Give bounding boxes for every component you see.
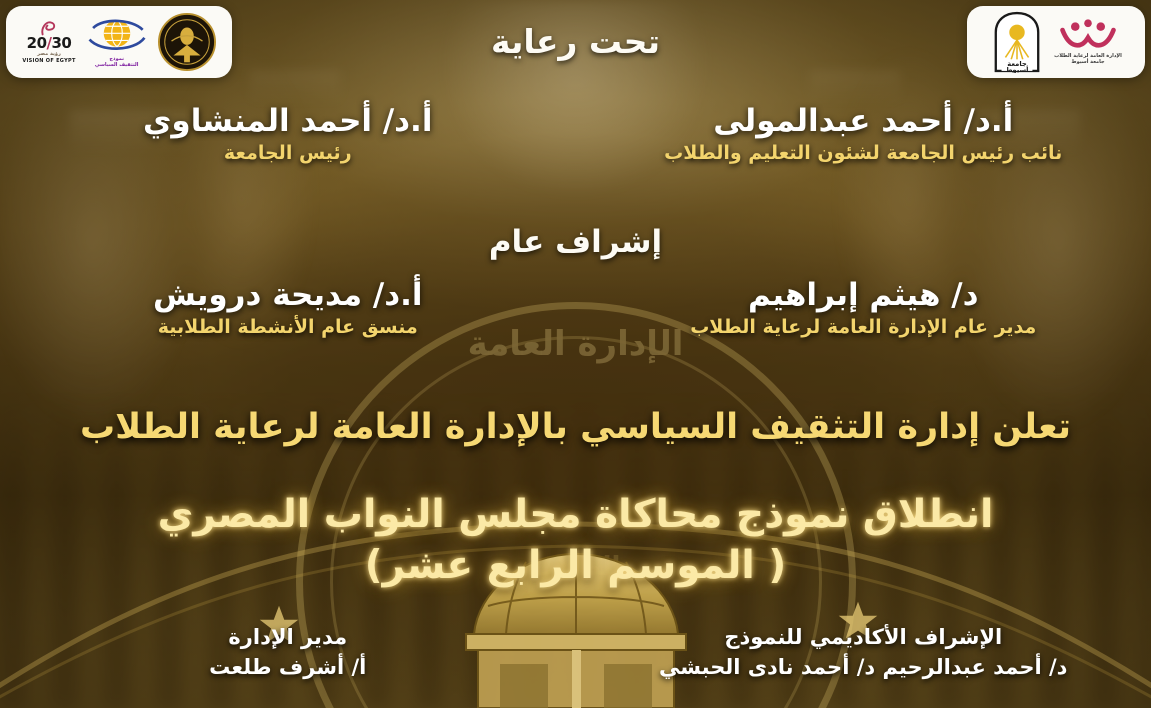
headline-line-2: ( الموسم الرابع عشر) bbox=[40, 540, 1111, 591]
footer-row: الإشراف الأكاديمي للنموذج د/ أحمد عبدالر… bbox=[0, 624, 1151, 681]
footer-title: مدير الإدارة bbox=[26, 624, 550, 650]
patron-university-president: أ.د/ أحمد المنشاوي رئيس الجامعة bbox=[0, 104, 576, 165]
patron-role: رئيس الجامعة bbox=[12, 142, 564, 165]
patron-role: نائب رئيس الجامعة لشئون التعليم والطلاب bbox=[588, 142, 1140, 165]
footer-names: أ/ أشرف طلعت bbox=[26, 654, 550, 680]
patronage-kicker: تحت رعاية bbox=[0, 22, 1151, 61]
supervisor-activities-coordinator: أ.د/ مديحة درويش منسق عام الأنشطة الطلاب… bbox=[0, 278, 576, 339]
event-headline: انطلاق نموذج محاكاة مجلس النواب المصري (… bbox=[0, 489, 1151, 592]
supervisors-row: د/ هيثم إبراهيم مدير عام الإدارة العامة … bbox=[0, 278, 1151, 339]
footer-department-manager: مدير الإدارة أ/ أشرف طلعت bbox=[0, 624, 576, 681]
supervisor-role: مدير عام الإدارة العامة لرعاية الطلاب bbox=[588, 316, 1140, 339]
event-poster: الإدارة العامة الطلاب لرعاية الطلاب bbox=[0, 0, 1151, 708]
supervisor-role: منسق عام الأنشطة الطلابية bbox=[12, 316, 564, 339]
announcement-text: تعلن إدارة التثقيف السياسي بالإدارة العا… bbox=[0, 406, 1151, 449]
footer-names: د/ أحمد عبدالرحيم د/ أحمد نادى الحبشي bbox=[602, 654, 1126, 680]
patron-name: أ.د/ أحمد عبدالمولى bbox=[588, 104, 1140, 139]
poster-content: تحت رعاية أ.د/ أحمد عبدالمولى نائب رئيس … bbox=[0, 0, 1151, 708]
headline-line-1: انطلاق نموذج محاكاة مجلس النواب المصري bbox=[158, 492, 994, 537]
patrons-row: أ.د/ أحمد عبدالمولى نائب رئيس الجامعة لش… bbox=[0, 104, 1151, 165]
supervision-label: إشراف عام bbox=[0, 224, 1151, 260]
footer-title: الإشراف الأكاديمي للنموذج bbox=[602, 624, 1126, 650]
patron-name: أ.د/ أحمد المنشاوي bbox=[12, 104, 564, 139]
supervisor-name: د/ هيثم إبراهيم bbox=[588, 278, 1140, 313]
footer-academic-supervision: الإشراف الأكاديمي للنموذج د/ أحمد عبدالر… bbox=[576, 624, 1151, 681]
supervisor-name: أ.د/ مديحة درويش bbox=[12, 278, 564, 313]
patron-vice-president: أ.د/ أحمد عبدالمولى نائب رئيس الجامعة لش… bbox=[576, 104, 1151, 165]
supervisor-general-director: د/ هيثم إبراهيم مدير عام الإدارة العامة … bbox=[576, 278, 1151, 339]
